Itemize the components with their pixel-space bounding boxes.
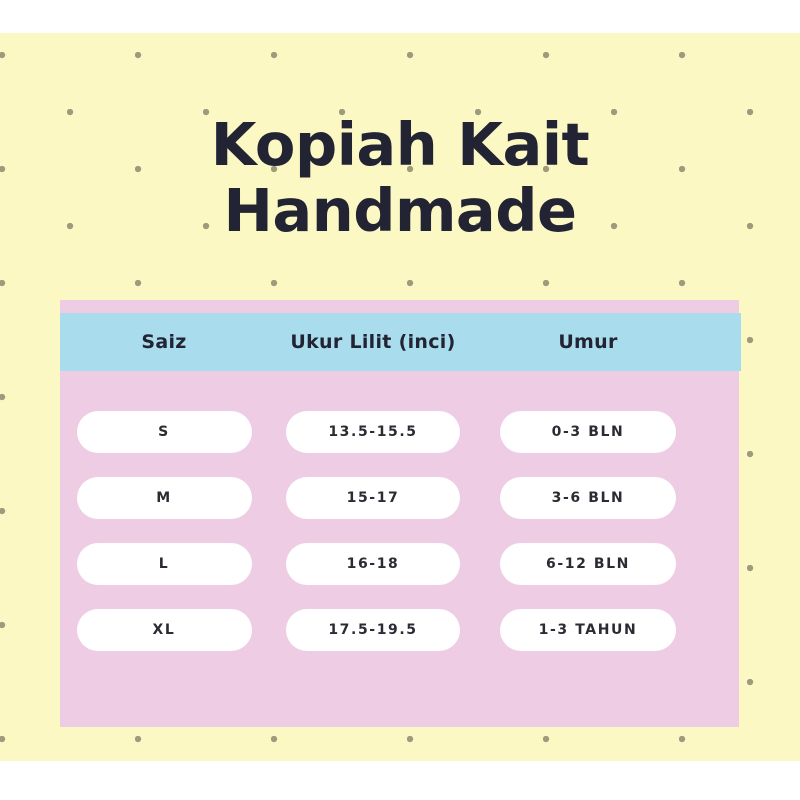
column-header-size: Saiz: [60, 331, 268, 353]
age-value-pill: 6-12 BLN: [500, 543, 676, 585]
cell-age-wrapper: 0-3 BLN: [478, 411, 698, 453]
cell-circumference-wrapper: 13.5-15.5: [268, 411, 478, 453]
cell-age-wrapper: 1-3 TAHUN: [478, 609, 698, 651]
age-value-pill: 0-3 BLN: [500, 411, 676, 453]
cell-size-wrapper: L: [60, 543, 268, 585]
size-chart-body: S 13.5-15.5 0-3 BLN M 15-17 3-6 BLN: [60, 371, 739, 675]
size-chart-panel: Saiz Ukur Lilit (inci) Umur S 13.5-15.5 …: [60, 300, 739, 727]
cell-age-wrapper: 6-12 BLN: [478, 543, 698, 585]
table-row: S 13.5-15.5 0-3 BLN: [60, 411, 739, 453]
circumference-value-pill: 16-18: [286, 543, 460, 585]
age-value-pill: 3-6 BLN: [500, 477, 676, 519]
cell-circumference-wrapper: 15-17: [268, 477, 478, 519]
circumference-value-pill: 15-17: [286, 477, 460, 519]
poster-canvas: Kopiah Kait Handmade Saiz Ukur Lilit (in…: [0, 0, 800, 800]
circumference-value-pill: 13.5-15.5: [286, 411, 460, 453]
cell-circumference-wrapper: 16-18: [268, 543, 478, 585]
title-line-2: Handmade: [0, 178, 800, 244]
title-line-1: Kopiah Kait: [0, 112, 800, 178]
circumference-value-pill: 17.5-19.5: [286, 609, 460, 651]
cell-size-wrapper: S: [60, 411, 268, 453]
cell-circumference-wrapper: 17.5-19.5: [268, 609, 478, 651]
size-value-pill: L: [77, 543, 252, 585]
cell-age-wrapper: 3-6 BLN: [478, 477, 698, 519]
column-header-age: Umur: [478, 331, 698, 353]
table-row: M 15-17 3-6 BLN: [60, 477, 739, 519]
size-value-pill: M: [77, 477, 252, 519]
age-value-pill: 1-3 TAHUN: [500, 609, 676, 651]
cell-size-wrapper: M: [60, 477, 268, 519]
cell-size-wrapper: XL: [60, 609, 268, 651]
table-row: XL 17.5-19.5 1-3 TAHUN: [60, 609, 739, 651]
size-chart-header-row: Saiz Ukur Lilit (inci) Umur: [60, 313, 741, 371]
size-value-pill: S: [77, 411, 252, 453]
column-header-circumference: Ukur Lilit (inci): [268, 331, 478, 353]
table-row: L 16-18 6-12 BLN: [60, 543, 739, 585]
page-title: Kopiah Kait Handmade: [0, 112, 800, 244]
size-value-pill: XL: [77, 609, 252, 651]
